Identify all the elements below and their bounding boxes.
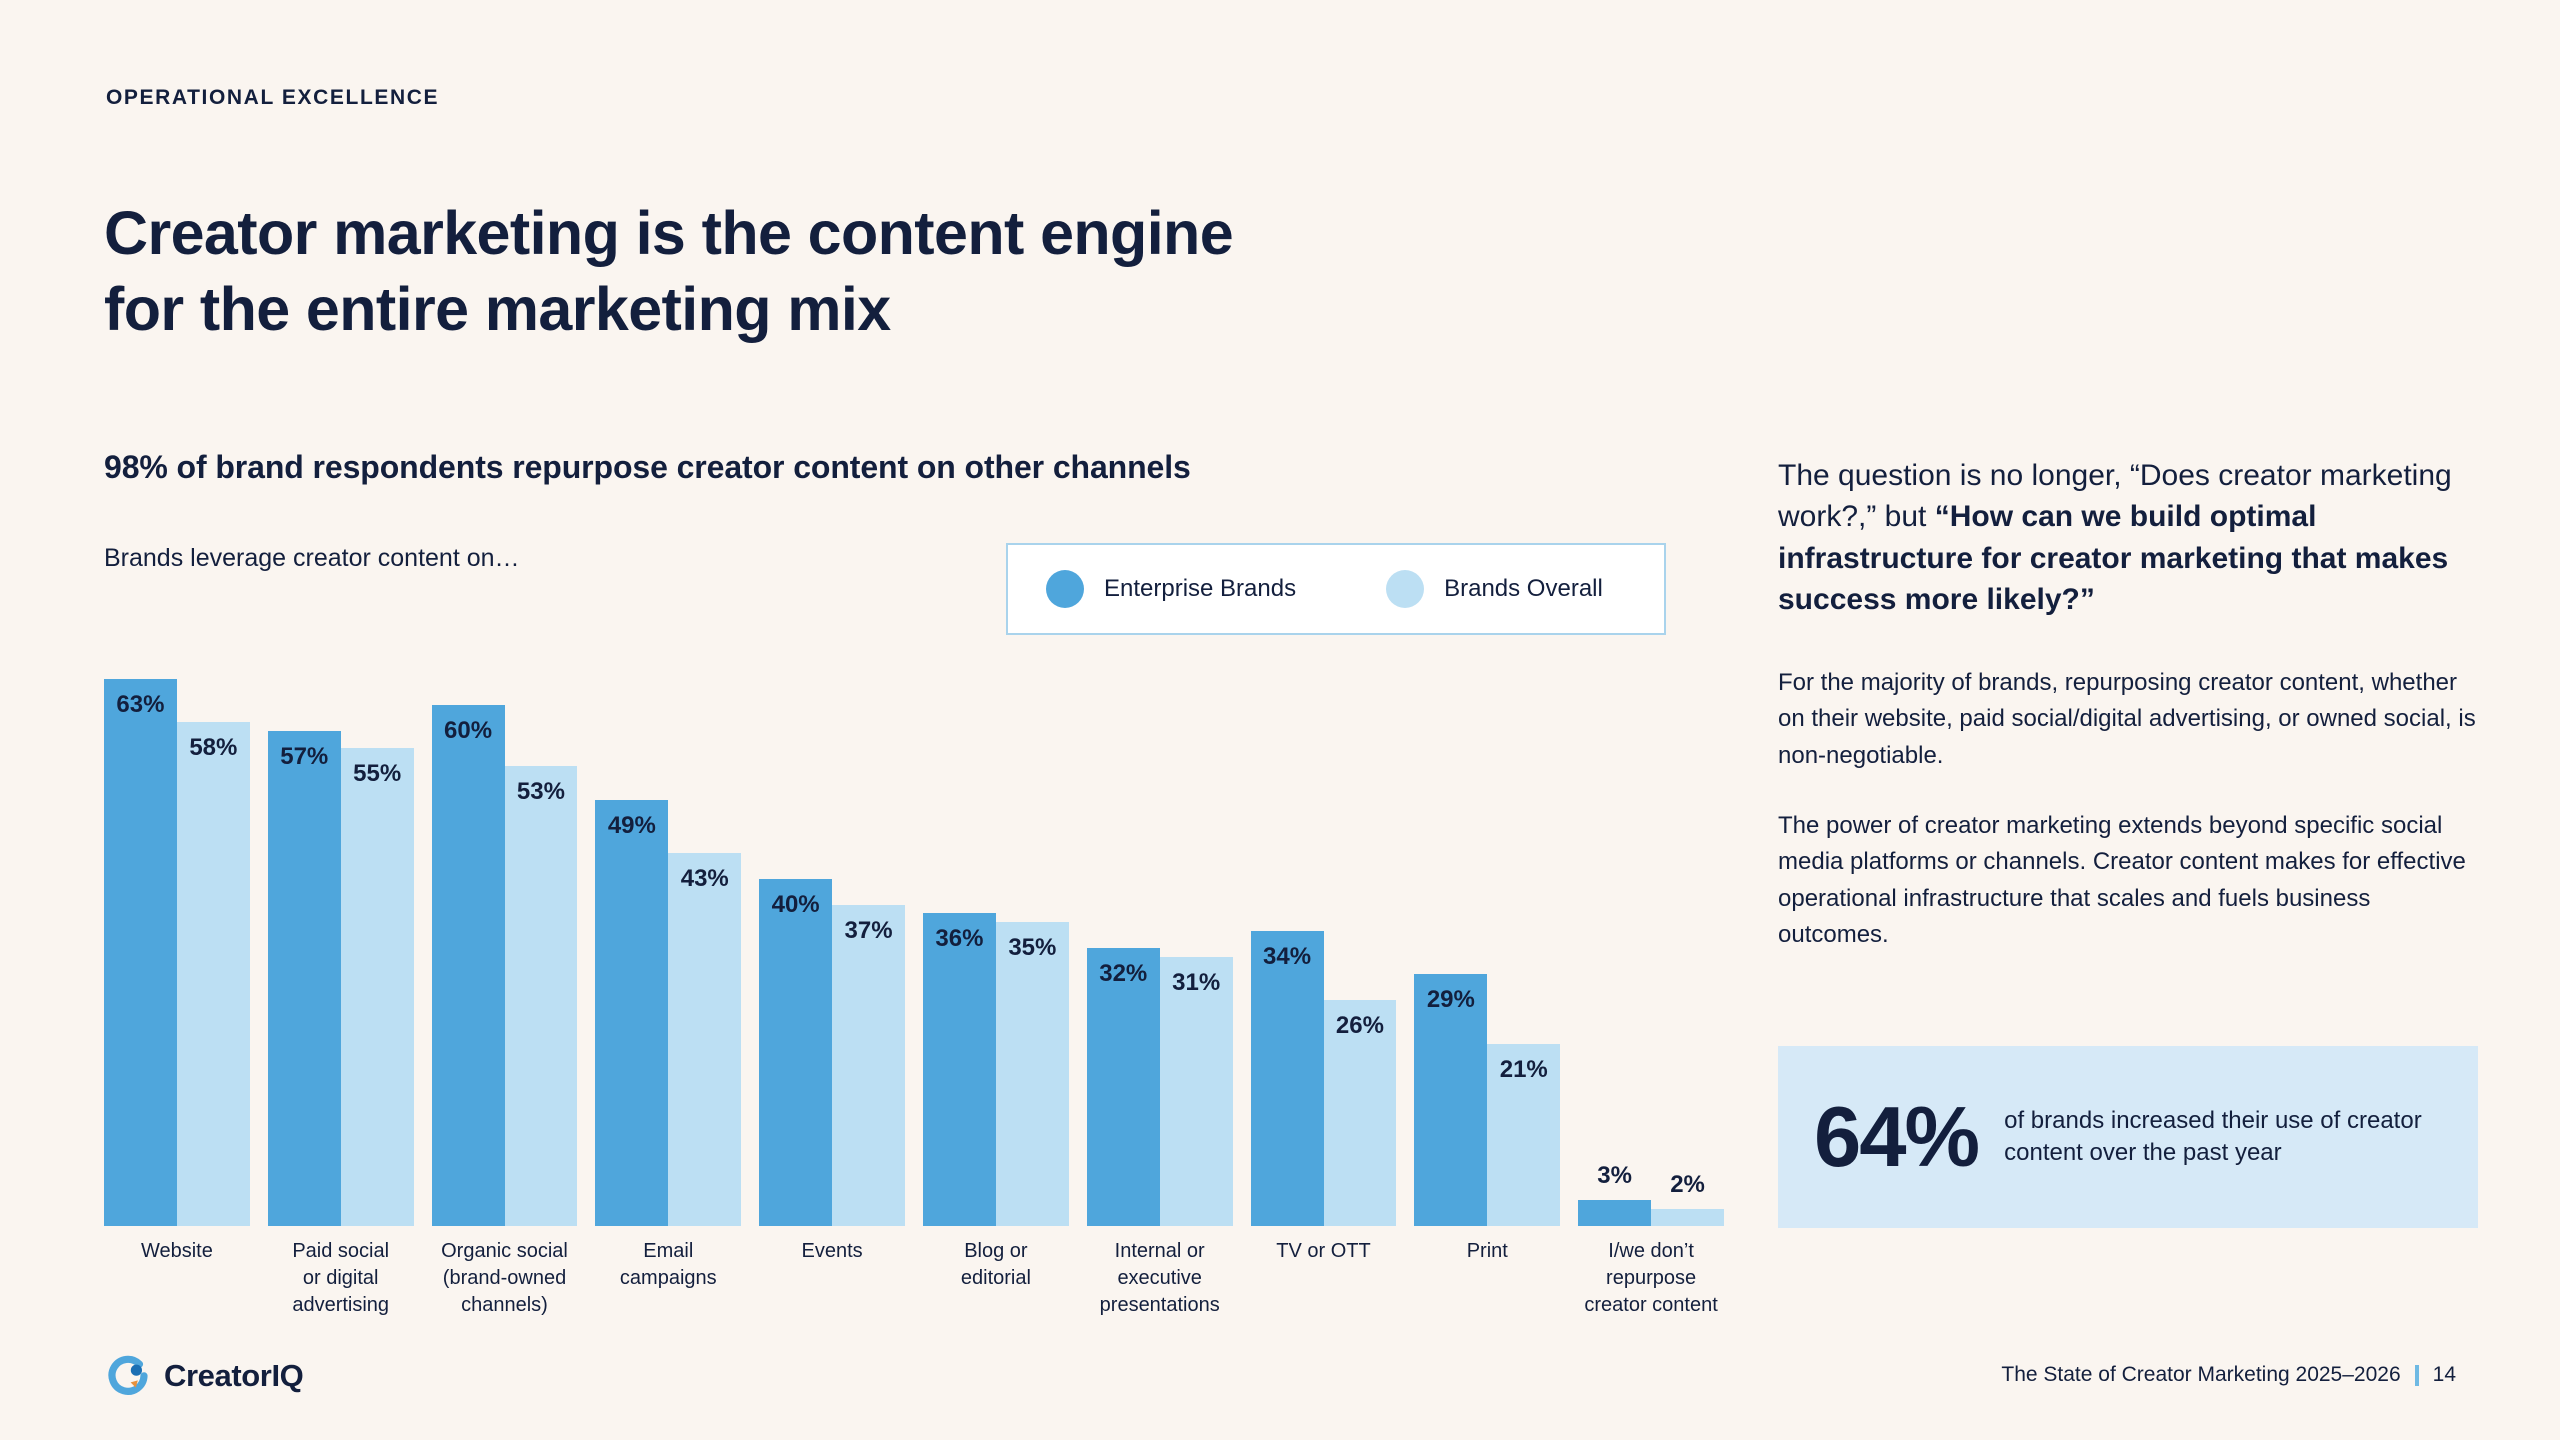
x-axis-label: TV or OTT xyxy=(1251,1238,1397,1265)
x-axis-label: Internal orexecutivepresentations xyxy=(1087,1238,1233,1318)
x-axis-label: Paid socialor digitaladvertising xyxy=(268,1238,414,1318)
x-axis-label: I/we don’trepurposecreator content xyxy=(1578,1238,1724,1318)
bar-value-label: 35% xyxy=(996,934,1069,962)
page-title: Creator marketing is the content engine … xyxy=(104,196,1233,347)
bar-group: 49%43% xyxy=(595,618,741,1226)
footer-meta: The State of Creator Marketing 2025–2026… xyxy=(2001,1363,2456,1387)
bar-value-label: 32% xyxy=(1087,960,1160,988)
bar-value-label: 21% xyxy=(1487,1056,1560,1084)
stat-callout-number: 64% xyxy=(1814,1095,1978,1180)
eyebrow-label: OPERATIONAL EXCELLENCE xyxy=(106,86,439,110)
legend-label-enterprise: Enterprise Brands xyxy=(1104,575,1296,603)
bar-value-label: 40% xyxy=(759,891,832,919)
legend-item-overall: Brands Overall xyxy=(1386,570,1603,608)
legend-label-overall: Brands Overall xyxy=(1444,575,1603,603)
bar-value-label: 3% xyxy=(1578,1162,1651,1190)
bar-group: 32%31% xyxy=(1087,618,1233,1226)
footer-report-title: The State of Creator Marketing 2025–2026 xyxy=(2001,1363,2400,1387)
bar-value-label: 57% xyxy=(268,743,341,771)
legend-swatch-icon xyxy=(1386,570,1424,608)
brand-logo: CreatorIQ xyxy=(106,1354,303,1398)
right-column: The question is no longer, “Does creator… xyxy=(1778,455,2478,954)
footer-divider-icon xyxy=(2415,1365,2419,1386)
title-line-1: Creator marketing is the content engine xyxy=(104,196,1233,272)
bar-chart-x-axis: WebsitePaid socialor digitaladvertisingO… xyxy=(104,1238,1724,1368)
bar-value-label: 49% xyxy=(595,812,668,840)
bar-group: 29%21% xyxy=(1414,618,1560,1226)
stat-callout: 64% of brands increased their use of cre… xyxy=(1778,1046,2478,1228)
body-paragraph-1: For the majority of brands, repurposing … xyxy=(1778,665,2478,774)
bar-value-label: 36% xyxy=(923,925,996,953)
x-axis-label: Blog oreditorial xyxy=(923,1238,1069,1292)
brand-logo-wordmark: CreatorIQ xyxy=(164,1358,303,1394)
bar-value-label: 55% xyxy=(341,760,414,788)
bar-group: 63%58% xyxy=(104,618,250,1226)
pull-quote: The question is no longer, “Does creator… xyxy=(1778,455,2478,621)
bar-value-label: 34% xyxy=(1251,943,1324,971)
bar-value-label: 37% xyxy=(832,917,905,945)
slide: OPERATIONAL EXCELLENCE Creator marketing… xyxy=(0,0,2560,1440)
x-axis-label: Organic social(brand-ownedchannels) xyxy=(432,1238,578,1318)
bar-group: 60%53% xyxy=(432,618,578,1226)
bar-group: 57%55% xyxy=(268,618,414,1226)
bar-value-label: 63% xyxy=(104,691,177,719)
x-axis-label: Print xyxy=(1414,1238,1560,1265)
footer-page-number: 14 xyxy=(2433,1363,2456,1387)
stat-callout-text: of brands increased their use of creator… xyxy=(2004,1105,2478,1168)
creatoriq-logo-icon xyxy=(106,1354,150,1398)
bar-group: 36%35% xyxy=(923,618,1069,1226)
bar-value-label: 31% xyxy=(1160,969,1233,997)
bar-chart-plot: 63%58%57%55%60%53%49%43%40%37%36%35%32%3… xyxy=(104,618,1724,1226)
bar-group: 40%37% xyxy=(759,618,905,1226)
bar-value-label: 29% xyxy=(1414,986,1487,1014)
bar-value-label: 2% xyxy=(1651,1171,1724,1199)
bar-value-label: 53% xyxy=(505,778,578,806)
legend-swatch-icon xyxy=(1046,570,1084,608)
bar-value-label: 43% xyxy=(668,865,741,893)
bar-group: 3%2% xyxy=(1578,618,1724,1226)
x-axis-label: Events xyxy=(759,1238,905,1265)
title-line-2: for the entire marketing mix xyxy=(104,272,1233,348)
bar-value-label: 26% xyxy=(1324,1012,1397,1040)
bar-value-label: 60% xyxy=(432,717,505,745)
bar-group: 34%26% xyxy=(1251,618,1397,1226)
legend-item-enterprise: Enterprise Brands xyxy=(1046,570,1296,608)
chart-headline: 98% of brand respondents repurpose creat… xyxy=(104,448,1724,486)
body-paragraph-2: The power of creator marketing extends b… xyxy=(1778,808,2478,954)
x-axis-label: Emailcampaigns xyxy=(595,1238,741,1292)
bar-value-label: 58% xyxy=(177,734,250,762)
x-axis-label: Website xyxy=(104,1238,250,1265)
